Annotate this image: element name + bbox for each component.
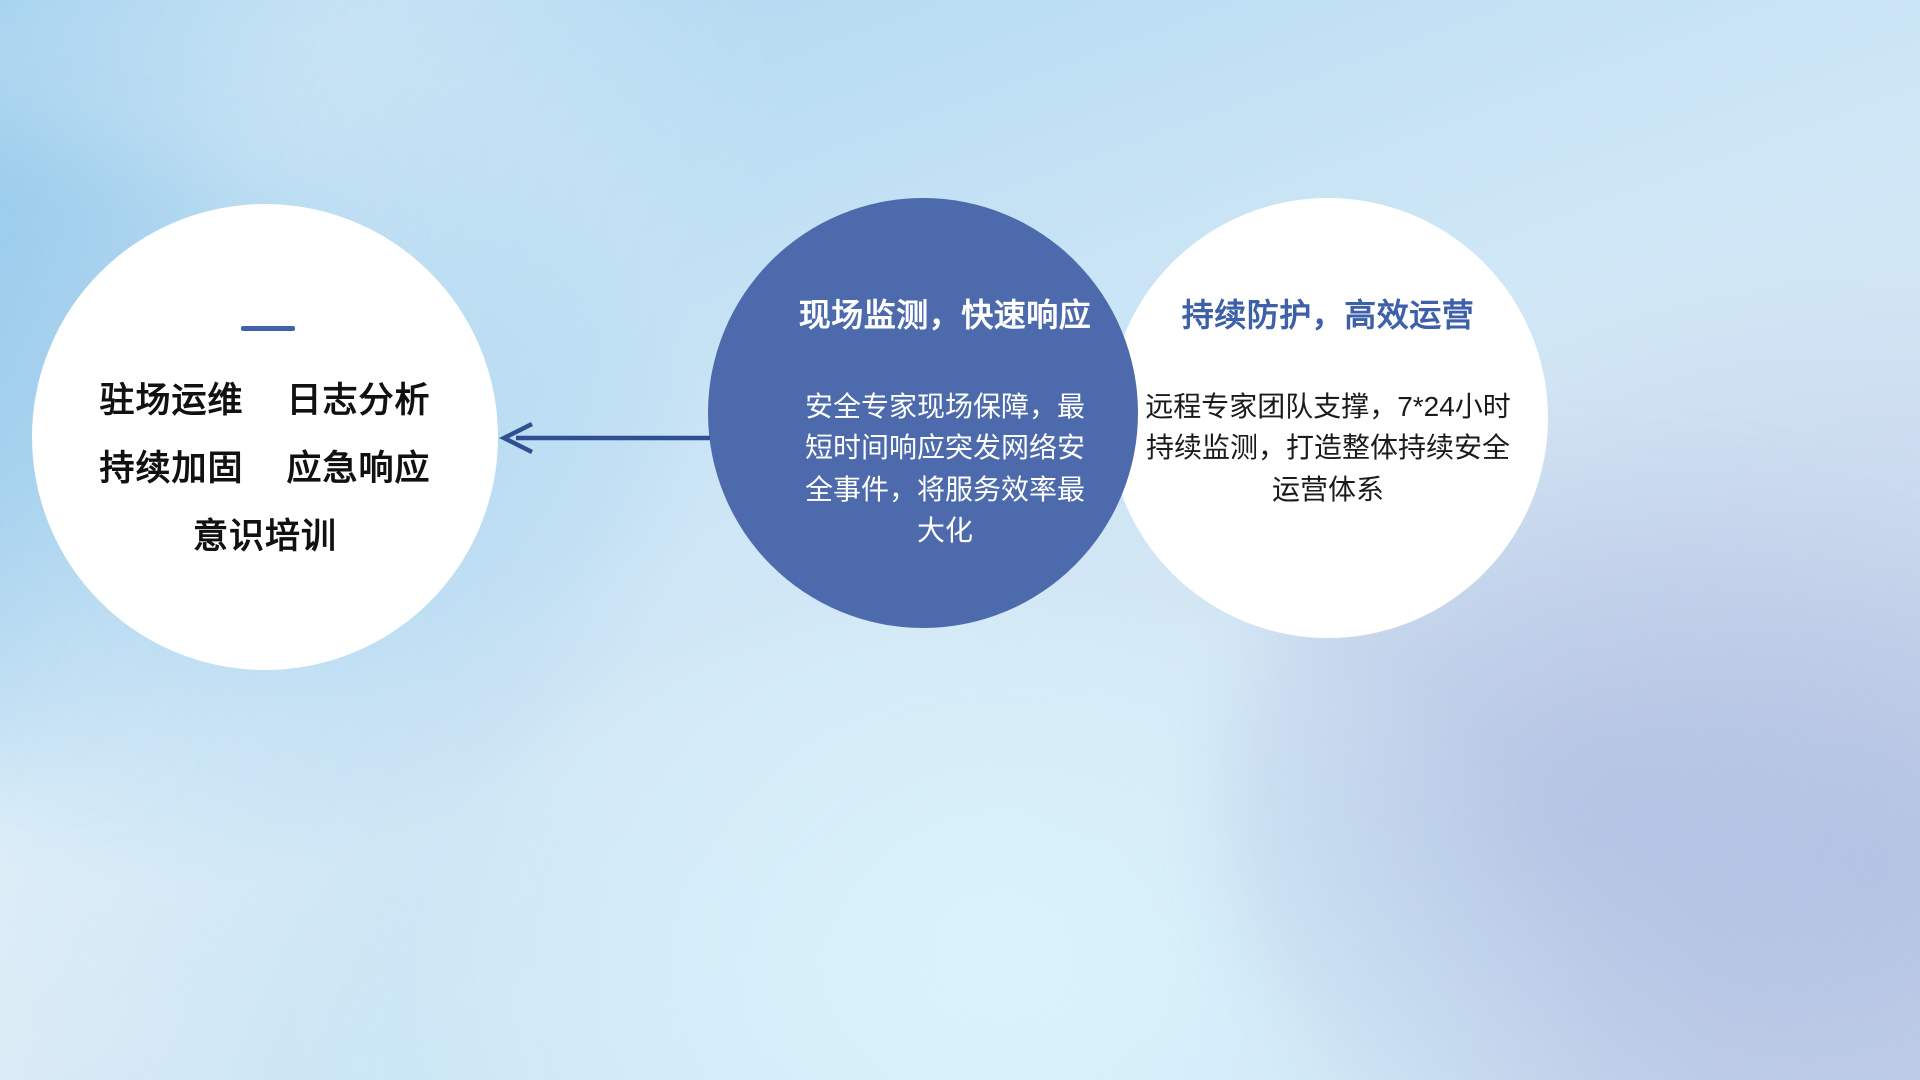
right-circle-content: 持续防护，高效运营 远程专家团队支撑，7*24小时持续监测，打造整体持续安全运营… (1108, 198, 1548, 638)
left-circle-content: 驻场运维 日志分析 持续加固 应急响应 意识培训 (32, 204, 498, 670)
mid-monitoring-circle: 现场监测，快速响应 安全专家现场保障，最短时间响应突发网络安全事件，将服务效率最… (708, 198, 1138, 628)
left-circle-line-2: 持续加固 应急响应 (100, 451, 431, 486)
right-operations-circle: 持续防护，高效运营 远程专家团队支撑，7*24小时持续监测，打造整体持续安全运营… (1108, 198, 1548, 638)
mid-circle-content: 现场监测，快速响应 安全专家现场保障，最短时间响应突发网络安全事件，将服务效率最… (708, 198, 1138, 628)
left-capability-circle: 驻场运维 日志分析 持续加固 应急响应 意识培训 (32, 204, 498, 670)
left-circle-line-1: 驻场运维 日志分析 (100, 383, 431, 418)
left-circle-line-3: 意识培训 (193, 519, 337, 554)
flow-arrow-left-icon (496, 418, 714, 458)
divider-dash-icon (241, 326, 295, 331)
right-circle-title: 持续防护，高效运营 (1182, 290, 1475, 336)
mid-circle-title: 现场监测，快速响应 (799, 290, 1092, 336)
mid-circle-body: 安全专家现场保障，最短时间响应突发网络安全事件，将服务效率最大化 (799, 386, 1091, 552)
slide-canvas: 驻场运维 日志分析 持续加固 应急响应 意识培训 持续防护，高效运营 远程专家团… (0, 0, 1920, 1080)
background-glow-bottom (380, 600, 1630, 1080)
right-circle-body: 远程专家团队支撑，7*24小时持续监测，打造整体持续安全运营体系 (1145, 386, 1511, 510)
